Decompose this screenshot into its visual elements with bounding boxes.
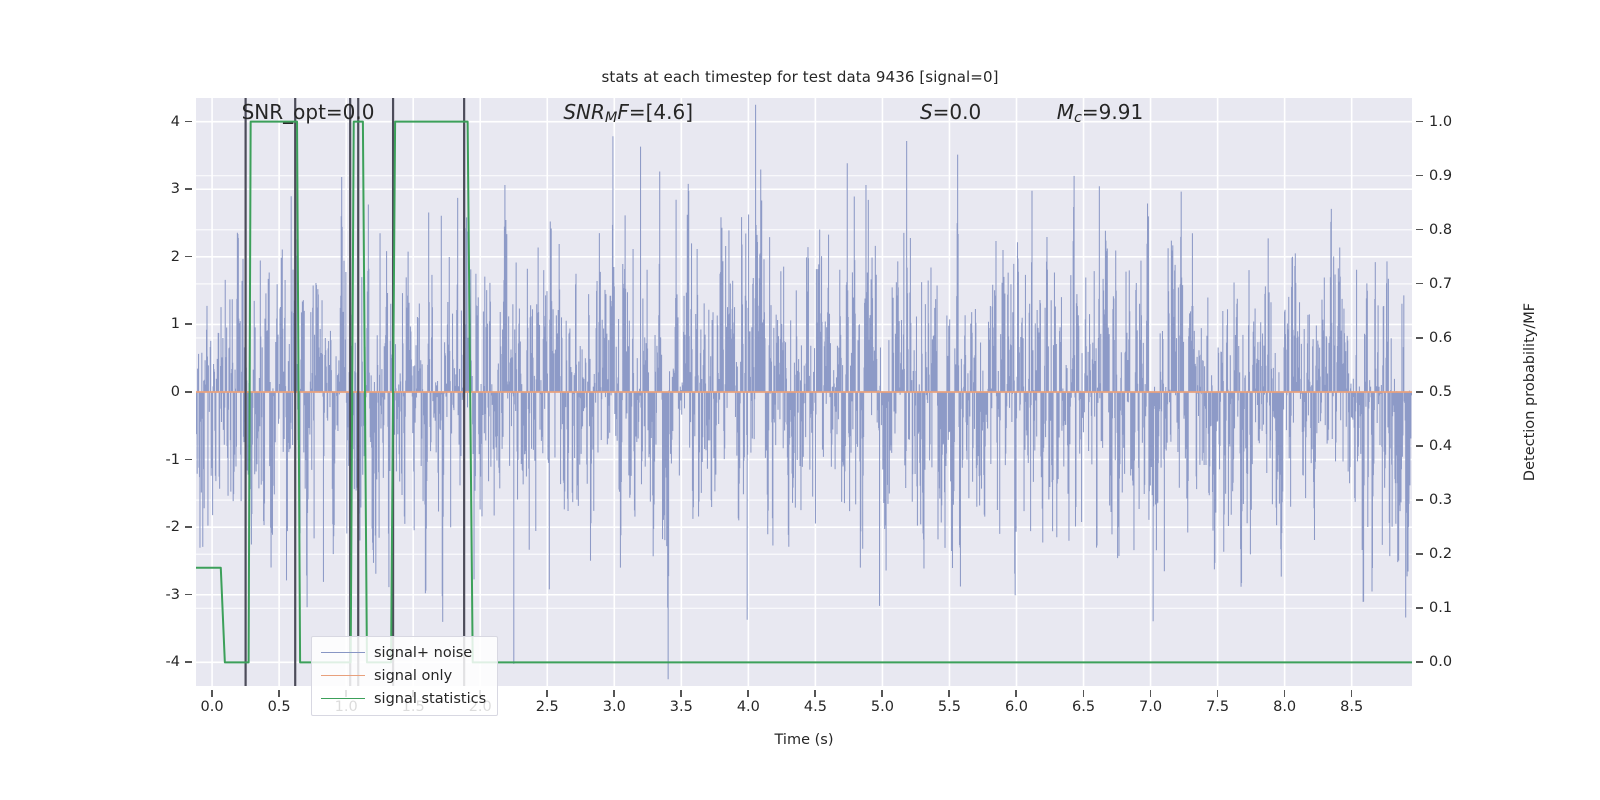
y-tick-label-right: 0.3 <box>1429 492 1473 508</box>
y-tick-mark-left <box>185 121 192 123</box>
y-tick-mark-left <box>185 256 192 258</box>
y-tick-label-right: 0.9 <box>1429 168 1473 184</box>
x-tick-label: 0.0 <box>201 699 224 715</box>
x-tick-label: 3.0 <box>603 699 626 715</box>
y-tick-mark-right <box>1416 175 1423 177</box>
y-tick-mark-right <box>1416 337 1423 339</box>
legend-swatch-line <box>321 698 365 699</box>
x-tick-label: 6.0 <box>1005 699 1028 715</box>
y-tick-label-left: -3 <box>140 587 180 603</box>
x-tick-label: 7.0 <box>1139 699 1162 715</box>
y-tick-label-right: 0.1 <box>1429 600 1473 616</box>
annotation-snr-opt: SNR_opt=0.0 <box>242 100 375 124</box>
y-tick-mark-right <box>1416 553 1423 555</box>
x-tick-mark <box>1284 690 1286 697</box>
y-tick-mark-right <box>1416 391 1423 393</box>
x-tick-mark <box>747 690 749 697</box>
y-tick-label-right: 0.2 <box>1429 546 1473 562</box>
y-tick-mark-left <box>185 391 192 393</box>
x-tick-mark <box>613 690 615 697</box>
y-tick-label-left: 4 <box>140 114 180 130</box>
plot-canvas <box>196 98 1412 686</box>
y-tick-label-right: 0.8 <box>1429 222 1473 238</box>
y-tick-label-right: 1.0 <box>1429 114 1473 130</box>
legend-label: signal statistics <box>374 691 486 707</box>
y-tick-label-left: 3 <box>140 181 180 197</box>
y-tick-mark-right <box>1416 661 1423 663</box>
plot-axes-area <box>196 98 1412 686</box>
y-tick-label-left: -1 <box>140 452 180 468</box>
x-tick-mark <box>1150 690 1152 697</box>
y-tick-mark-right <box>1416 229 1423 231</box>
x-tick-mark <box>680 690 682 697</box>
x-tick-label: 4.0 <box>737 699 760 715</box>
y-tick-mark-left <box>185 526 192 528</box>
y-tick-mark-left <box>185 661 192 663</box>
legend-item[interactable]: signal+ noise <box>321 643 486 662</box>
x-tick-label: 6.5 <box>1072 699 1095 715</box>
y-tick-mark-right <box>1416 121 1423 123</box>
x-tick-label: 2.5 <box>536 699 559 715</box>
y-tick-label-right: 0.6 <box>1429 330 1473 346</box>
y-tick-label-left: 0 <box>140 384 180 400</box>
x-tick-mark <box>546 690 548 697</box>
y-axis-right-label: Detection probability/MF <box>1522 303 1538 481</box>
x-tick-mark <box>881 690 883 697</box>
annotation-s-stat: S=0.0 <box>920 100 981 124</box>
y-tick-mark-left <box>185 188 192 190</box>
legend-swatch-line <box>321 652 365 653</box>
x-tick-label: 5.5 <box>938 699 961 715</box>
x-axis-label: Time (s) <box>775 732 834 748</box>
chart-title: stats at each timestep for test data 943… <box>0 68 1600 86</box>
x-tick-label: 4.5 <box>804 699 827 715</box>
x-tick-mark <box>1351 690 1353 697</box>
y-tick-label-right: 0.4 <box>1429 438 1473 454</box>
x-tick-label: 0.5 <box>268 699 291 715</box>
y-tick-label-right: 0.5 <box>1429 384 1473 400</box>
matplotlib-figure: stats at each timestep for test data 943… <box>0 0 1600 800</box>
legend-label: signal only <box>374 668 452 684</box>
y-tick-mark-right <box>1416 607 1423 609</box>
y-tick-label-left: -4 <box>140 654 180 670</box>
x-tick-mark <box>278 690 280 697</box>
legend-swatch-line <box>321 675 365 676</box>
x-tick-label: 7.5 <box>1206 699 1229 715</box>
annotation-snr-mf: SNRMF=[4.6] <box>563 100 693 126</box>
y-tick-mark-left <box>185 594 192 596</box>
x-tick-mark <box>1015 690 1017 697</box>
x-tick-label: 5.0 <box>871 699 894 715</box>
y-tick-mark-right <box>1416 499 1423 501</box>
y-tick-mark-left <box>185 459 192 461</box>
y-tick-label-left: 1 <box>140 316 180 332</box>
annotation-mchirp: Mc=9.91 <box>1057 100 1143 126</box>
legend-label: signal+ noise <box>374 645 472 661</box>
y-tick-label-right: 0.0 <box>1429 654 1473 670</box>
y-tick-label-left: 2 <box>140 249 180 265</box>
legend-item[interactable]: signal only <box>321 666 486 685</box>
legend-item[interactable]: signal statistics <box>321 689 486 708</box>
x-tick-mark <box>1217 690 1219 697</box>
x-tick-label: 8.5 <box>1340 699 1363 715</box>
y-tick-mark-left <box>185 323 192 325</box>
x-tick-label: 8.0 <box>1273 699 1296 715</box>
x-tick-label: 3.5 <box>670 699 693 715</box>
y-tick-mark-right <box>1416 445 1423 447</box>
y-tick-mark-right <box>1416 283 1423 285</box>
x-tick-mark <box>948 690 950 697</box>
chart-legend[interactable]: signal+ noisesignal onlysignal statistic… <box>311 636 498 716</box>
x-tick-mark <box>1083 690 1085 697</box>
x-tick-mark <box>814 690 816 697</box>
y-tick-label-left: -2 <box>140 519 180 535</box>
y-tick-label-right: 0.7 <box>1429 276 1473 292</box>
x-tick-mark <box>211 690 213 697</box>
